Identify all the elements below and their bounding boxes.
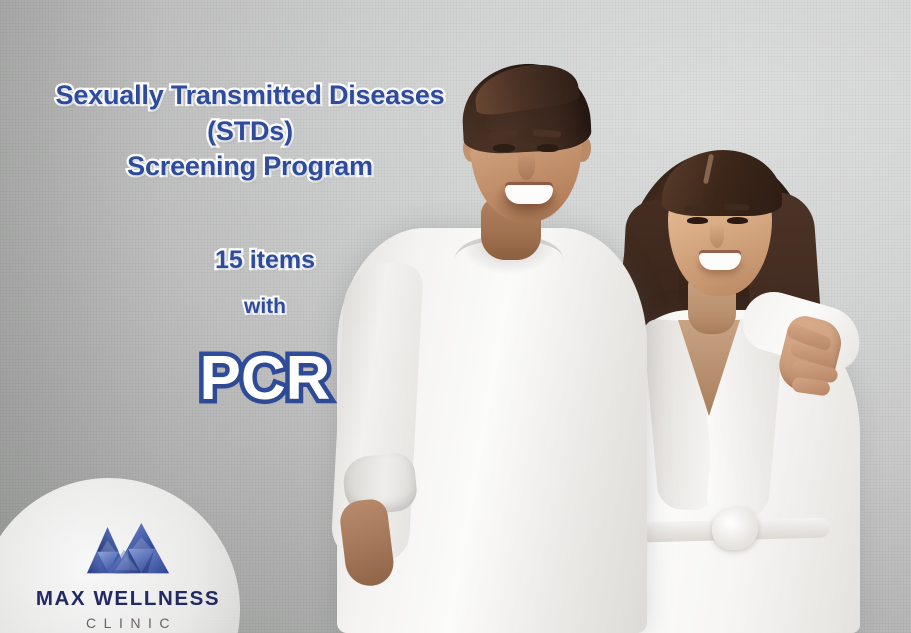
woman-eye-left — [687, 217, 708, 224]
clinic-logo[interactable]: MAX WELLNESS CLINIC — [22, 520, 234, 630]
mountain-triangles-icon — [76, 520, 180, 582]
method-label-pcr: PCR — [55, 348, 475, 410]
woman-mouth — [699, 253, 741, 270]
headline-line-1: Sexually Transmitted Diseases — [0, 78, 500, 114]
logo-name: MAX WELLNESS — [36, 589, 220, 610]
headline-line-3: Screening Program — [0, 149, 500, 185]
man-nose — [518, 152, 535, 180]
connector-label: with — [55, 295, 475, 318]
std-screening-banner: Sexually Transmitted Diseases (STDs) Scr… — [0, 0, 911, 633]
woman-nose — [710, 224, 724, 248]
logo-subtitle: CLINIC — [79, 616, 177, 630]
woman-hair-top — [662, 150, 782, 216]
man-mouth — [505, 185, 553, 204]
headline-line-2: (STDs) — [0, 114, 500, 150]
woman-eye-right — [727, 217, 748, 224]
headline: Sexually Transmitted Diseases (STDs) Scr… — [0, 78, 500, 185]
items-count-label: 15 items — [55, 247, 475, 275]
man-eye-right — [537, 144, 559, 152]
woman-belt-knot — [712, 508, 758, 550]
